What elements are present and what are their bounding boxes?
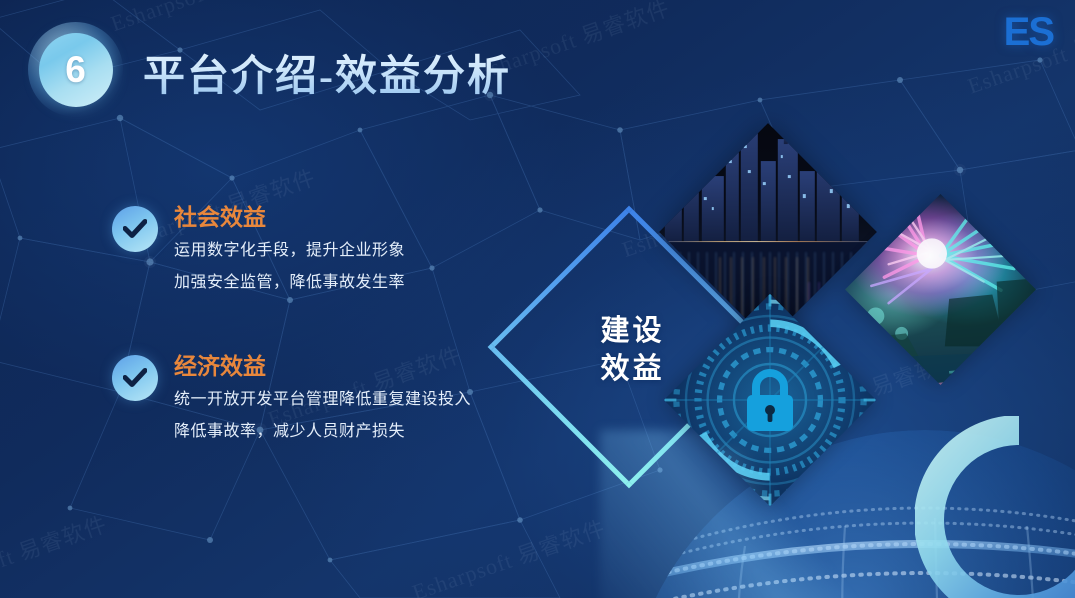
watermark-text: Esharpsoft 易睿软件 [106, 0, 308, 38]
check-circle-icon [112, 355, 158, 401]
diamond-label: 建设 效益 [580, 313, 685, 388]
slide-number-circle: 6 [39, 33, 113, 107]
benefit-heading: 社会效益 [174, 198, 266, 232]
slide-number-text: 6 [65, 51, 86, 88]
watermark-text: Esharpsoft 易睿软件 [407, 511, 609, 598]
check-circle-icon [112, 206, 158, 252]
lock-icon [740, 366, 800, 434]
light-show-fireworks-photo [845, 194, 1036, 385]
gradient-arc-graphic [915, 416, 1075, 598]
benefit-line: 加强安全监管，降低事故发生率 [174, 268, 405, 292]
diamond-label-line1: 建设 [580, 313, 685, 351]
diamond-label-line2: 效益 [580, 351, 685, 389]
benefit-heading: 经济效益 [174, 347, 266, 381]
brand-logo: ES [1004, 10, 1053, 55]
slide-number-badge: 6 [28, 22, 123, 117]
benefit-line: 降低事故率，减少人员财产损失 [174, 417, 405, 441]
benefit-line: 运用数字化手段，提升企业形象 [174, 236, 405, 260]
benefit-line: 统一开放开发平台管理降低重复建设投入 [174, 385, 471, 409]
watermark-text: Esharpsoft 易睿软件 [0, 507, 111, 598]
page-title: 平台介绍-效益分析 [143, 42, 511, 103]
slide-canvas: Esharpsoft 易睿软件 Esharpsoft 易睿软件 Esharpso… [0, 0, 1075, 598]
